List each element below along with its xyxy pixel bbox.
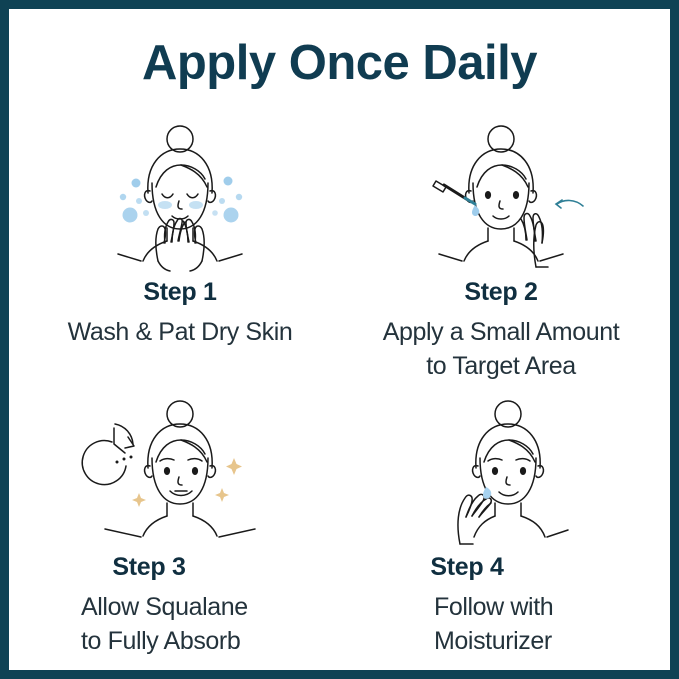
clock-dots	[116, 456, 133, 464]
bubble-group-right	[212, 177, 242, 223]
infographic-card: Apply Once Daily	[0, 0, 679, 679]
step-caption-3: Step 3 Allow Squalane to Fully Absorb	[15, 552, 345, 658]
foam-patches	[158, 201, 203, 209]
clock-circle	[82, 441, 126, 485]
woman-applying-moisturizer-icon	[336, 396, 666, 548]
woman-smiling-with-clock-and-sparkles-icon	[15, 396, 345, 548]
step-description: Allow Squalane to Fully Absorb	[15, 591, 345, 658]
bubble-group-left	[120, 179, 149, 223]
step-card-4: Step 4 Follow with Moisturizer	[336, 396, 666, 658]
woman-applying-serum-dropper-icon	[336, 121, 666, 273]
step-description: Wash & Pat Dry Skin	[15, 316, 345, 349]
woman-washing-face-with-bubbles-icon	[15, 121, 345, 273]
moisturizer-dab	[483, 487, 491, 499]
step-card-3: Step 3 Allow Squalane to Fully Absorb	[15, 396, 345, 658]
step-description: Follow with Moisturizer	[336, 591, 666, 658]
step-heading: Step 1	[15, 277, 345, 308]
page-title: Apply Once Daily	[9, 37, 670, 91]
step-caption-2: Step 2 Apply a Small Amount to Target Ar…	[336, 277, 666, 383]
direction-arrow-icon	[556, 200, 583, 208]
step-card-1: Step 1 Wash & Pat Dry Skin	[15, 121, 345, 350]
step-card-2: Step 2 Apply a Small Amount to Target Ar…	[336, 121, 666, 383]
steps-grid: Step 1 Wash & Pat Dry Skin	[9, 121, 670, 666]
card-inner: Apply Once Daily	[9, 9, 670, 670]
step-heading: Step 4	[336, 552, 666, 583]
step-caption-4: Step 4 Follow with Moisturizer	[336, 552, 666, 658]
step-heading: Step 2	[336, 277, 666, 308]
step-heading: Step 3	[15, 552, 345, 583]
step-caption-1: Step 1 Wash & Pat Dry Skin	[15, 277, 345, 350]
serum-drop	[472, 205, 479, 216]
step-description: Apply a Small Amount to Target Area	[336, 316, 666, 383]
